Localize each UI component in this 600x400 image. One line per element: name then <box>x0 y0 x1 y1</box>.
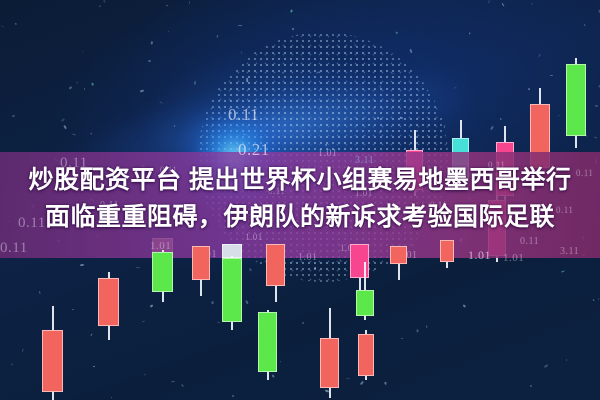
price-number-13: 1.01 <box>298 252 318 263</box>
candle-body <box>566 64 586 136</box>
candle-body <box>266 244 285 286</box>
stock-news-banner: 0.110.213.111.010.110.110.110.110.111.01… <box>0 0 600 400</box>
candle-2 <box>98 272 119 340</box>
candle-12 <box>356 262 374 320</box>
price-number-7: 0.11 <box>0 240 28 257</box>
candle-7 <box>222 256 242 330</box>
candle-body <box>390 246 407 264</box>
candle-body <box>152 252 173 292</box>
candle-19 <box>566 58 586 148</box>
candle-body <box>440 240 454 262</box>
candle-body <box>320 338 339 388</box>
candle-20 <box>358 330 374 380</box>
candle-21 <box>440 240 454 268</box>
candle-13 <box>390 246 407 280</box>
price-number-4: 1.01 <box>318 148 338 159</box>
price-number-16: 1.01 <box>468 248 491 263</box>
candle-body <box>42 330 63 392</box>
headline-line-2: 面临重重阻碍，伊朗队的新诉求考验国际足联 <box>0 199 600 236</box>
candle-body <box>258 312 277 372</box>
price-number-22: 3.11 <box>560 246 579 257</box>
price-number-1: 0.11 <box>228 105 259 125</box>
candle-body <box>356 290 374 316</box>
candle-10 <box>320 308 339 398</box>
candle-body <box>222 258 242 322</box>
headline-line-1: 炒股配资平台 提出世界杯小组赛易地墨西哥举行 <box>0 162 600 199</box>
candle-body <box>192 246 210 280</box>
candle-5 <box>192 246 210 296</box>
price-number-18: 0.11 <box>520 236 539 247</box>
candle-8 <box>266 244 285 302</box>
price-number-17: 1.01 <box>503 252 524 264</box>
candle-1 <box>42 306 63 400</box>
price-number-2: 0.21 <box>238 140 270 160</box>
headline-text: 炒股配资平台 提出世界杯小组赛易地墨西哥举行 面临重重阻碍，伊朗队的新诉求考验国… <box>0 162 600 236</box>
candle-9 <box>258 310 277 380</box>
candle-body <box>98 278 119 326</box>
candle-3 <box>152 250 173 302</box>
candle-body <box>358 334 374 376</box>
